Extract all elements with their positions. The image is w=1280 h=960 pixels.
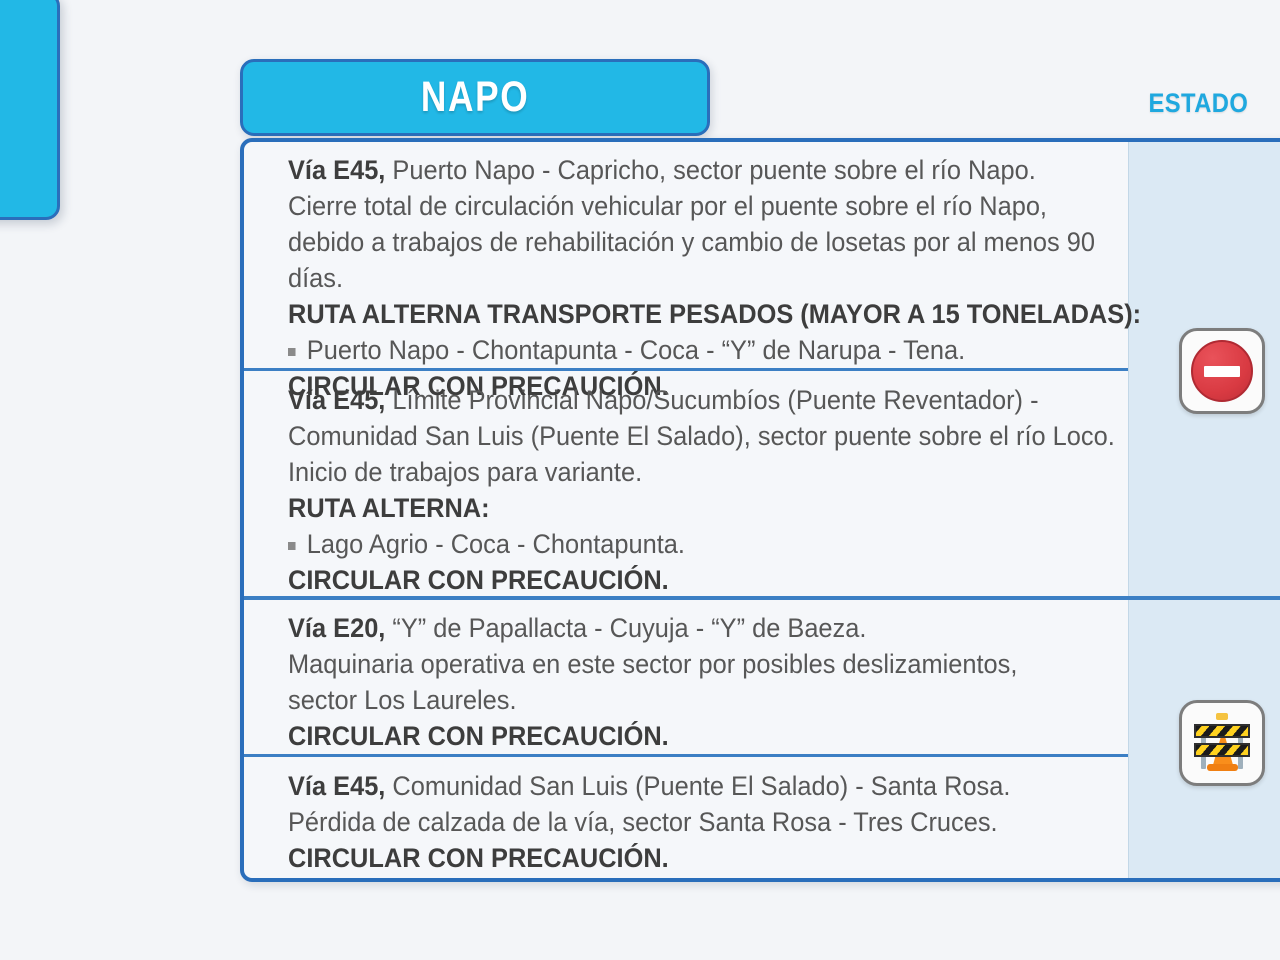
row-road-description: Puerto Napo - Capricho, sector puente so…	[392, 155, 1035, 185]
row-road-line: Vía E20, “Y” de Papallacta - Cuyuja - “Y…	[288, 610, 1061, 646]
no-entry-bar	[1204, 366, 1240, 377]
row-road-line: Vía E45, Comunidad San Luis (Puente El S…	[288, 768, 1061, 804]
table-row[interactable]: Vía E45, Límite Provincial Napo/Sucumbío…	[244, 372, 1128, 600]
row-advisory: CIRCULAR CON PRECAUCIÓN.	[288, 718, 1061, 754]
status-icon-box[interactable]	[1179, 328, 1265, 414]
no-entry-icon	[1191, 340, 1253, 402]
row-alt-route-item: Puerto Napo - Chontapunta - Coca - “Y” d…	[288, 332, 1061, 368]
row-road-label: Vía E45,	[288, 771, 385, 801]
table-row[interactable]: Vía E45, Comunidad San Luis (Puente El S…	[244, 758, 1128, 882]
row-road-description-cont: Comunidad San Luis (Puente El Salado), s…	[288, 418, 1061, 454]
province-tab-napo[interactable]: NAPO	[240, 59, 710, 136]
road-construction-barrier-icon	[1190, 713, 1254, 773]
status-column	[1128, 142, 1280, 878]
row-road-description: Comunidad San Luis (Puente El Salado) - …	[392, 771, 1010, 801]
row-detail: Maquinaria operativa en este sector por …	[288, 646, 1078, 718]
row-detail: Cierre total de circulación vehicular po…	[288, 188, 1115, 296]
row-road-label: Vía E45,	[288, 155, 385, 185]
row-alt-route-heading: RUTA ALTERNA:	[288, 490, 1061, 526]
screen: NAPO ESTADO	[0, 0, 1280, 960]
road-status-table: Vía E45, Puerto Napo - Capricho, sector …	[240, 138, 1280, 882]
barrier-lamp	[1216, 713, 1228, 720]
table-row[interactable]: Vía E20, “Y” de Papallacta - Cuyuja - “Y…	[244, 600, 1128, 754]
row-advisory: CIRCULAR CON PRECAUCIÓN.	[288, 562, 1061, 598]
row-advisory: CIRCULAR CON PRECAUCIÓN.	[288, 840, 1061, 876]
left-side-panel[interactable]	[0, 0, 60, 220]
table-body: Vía E45, Puerto Napo - Capricho, sector …	[244, 142, 1280, 878]
row-alt-route-item: Lago Agrio - Coca - Chontapunta.	[288, 526, 1061, 562]
row-road-description: “Y” de Papallacta - Cuyuja - “Y” de Baez…	[392, 613, 866, 643]
row-road-label: Vía E45,	[288, 385, 385, 415]
status-cell-closed[interactable]	[1129, 142, 1280, 600]
row-road-line: Vía E45, Límite Provincial Napo/Sucumbío…	[288, 382, 1061, 418]
row-detail: Pérdida de calzada de la vía, sector San…	[288, 804, 1061, 840]
row-detail: Inicio de trabajos para variante.	[288, 454, 1061, 490]
province-tab-label: NAPO	[421, 73, 529, 122]
row-alt-route-heading: RUTA ALTERNA TRANSPORTE PESADOS (MAYOR A…	[288, 296, 1061, 332]
status-icon-box[interactable]	[1179, 700, 1265, 786]
table-row[interactable]: Vía E45, Puerto Napo - Capricho, sector …	[244, 142, 1128, 368]
status-cell-construction[interactable]	[1129, 600, 1280, 882]
barrier-plank-top	[1194, 724, 1250, 738]
row-divider	[244, 368, 1128, 371]
row-road-line: Vía E45, Puerto Napo - Capricho, sector …	[288, 152, 1061, 188]
row-divider	[244, 754, 1128, 757]
row-road-description: Límite Provincial Napo/Sucumbíos (Puente…	[392, 385, 1038, 415]
status-column-header: ESTADO	[1128, 88, 1269, 119]
row-road-label: Vía E20,	[288, 613, 385, 643]
barrier-plank-bottom	[1194, 743, 1250, 757]
traffic-cone-base	[1207, 764, 1238, 771]
